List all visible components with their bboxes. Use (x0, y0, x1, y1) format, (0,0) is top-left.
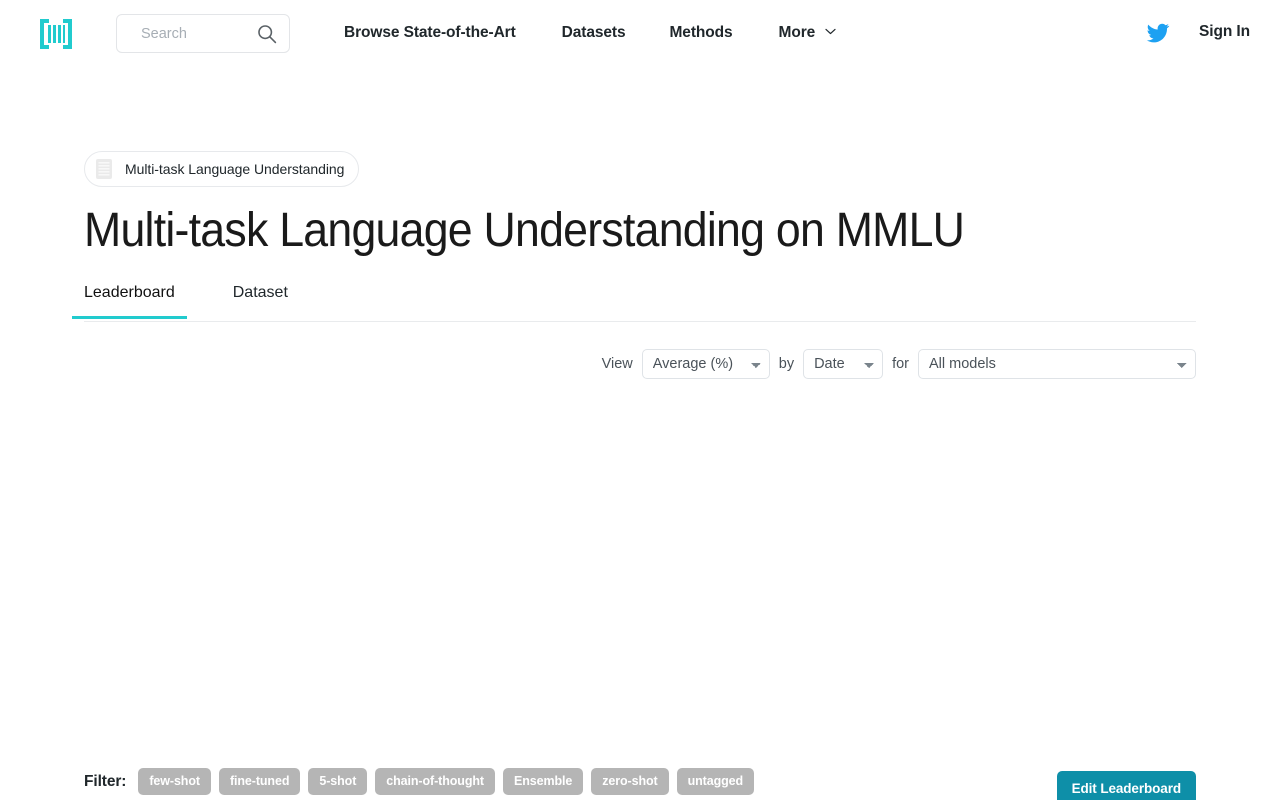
view-controls: View Average (%) by Date for All models (602, 349, 1196, 379)
chevron-down-icon (825, 22, 836, 40)
nav-browse-sota[interactable]: Browse State-of-the-Art (344, 24, 516, 42)
breadcrumb-task-label: Multi-task Language Understanding (125, 161, 344, 177)
tab-leaderboard[interactable]: Leaderboard (84, 278, 175, 318)
view-label: View (602, 356, 633, 372)
nav-methods[interactable]: Methods (669, 24, 732, 42)
model-filter-select[interactable]: All models (918, 349, 1196, 379)
top-navbar: Browse State-of-the-Art Datasets Methods… (0, 0, 1280, 66)
metric-select[interactable]: Average (%) (642, 349, 770, 379)
search-box[interactable] (116, 14, 290, 53)
by-label: by (779, 356, 794, 372)
filter-chip-few-shot[interactable]: few-shot (138, 768, 211, 795)
search-input[interactable] (117, 15, 249, 52)
filter-label: Filter: (84, 773, 126, 791)
papers-with-code-logo[interactable] (38, 16, 74, 52)
group-by-select[interactable]: Date (803, 349, 883, 379)
tab-dataset[interactable]: Dataset (233, 278, 288, 318)
sign-in-link[interactable]: Sign In (1199, 23, 1250, 41)
filter-chip-zero-shot[interactable]: zero-shot (591, 768, 668, 795)
page-title: Multi-task Language Understanding on MML… (84, 202, 964, 260)
filter-chip-ensemble[interactable]: Ensemble (503, 768, 583, 795)
for-label: for (892, 356, 909, 372)
tab-bar: Leaderboard Dataset (84, 278, 1196, 322)
edit-leaderboard-button[interactable]: Edit Leaderboard (1057, 771, 1196, 800)
filter-chip-fine-tuned[interactable]: fine-tuned (219, 768, 300, 795)
filter-chip-chain-of-thought[interactable]: chain-of-thought (375, 768, 495, 795)
search-icon[interactable] (257, 24, 277, 44)
filter-row: Filter: few-shot fine-tuned 5-shot chain… (84, 768, 762, 795)
nav-more-label: More (779, 24, 816, 41)
filter-chip-5-shot[interactable]: 5-shot (308, 768, 367, 795)
twitter-icon[interactable] (1146, 21, 1170, 45)
filter-chip-untagged[interactable]: untagged (677, 768, 754, 795)
task-thumb-glyph (94, 158, 114, 180)
nav-more[interactable]: More (779, 24, 837, 42)
twitter-bird-glyph (1146, 21, 1170, 45)
primary-nav: Browse State-of-the-Art Datasets Methods… (344, 0, 836, 66)
nav-datasets[interactable]: Datasets (562, 24, 626, 42)
logo-glyph (40, 19, 72, 49)
task-thumbnail-icon (93, 157, 115, 181)
leaderboard-chart (84, 388, 1196, 756)
breadcrumb[interactable]: Multi-task Language Understanding (84, 151, 359, 187)
